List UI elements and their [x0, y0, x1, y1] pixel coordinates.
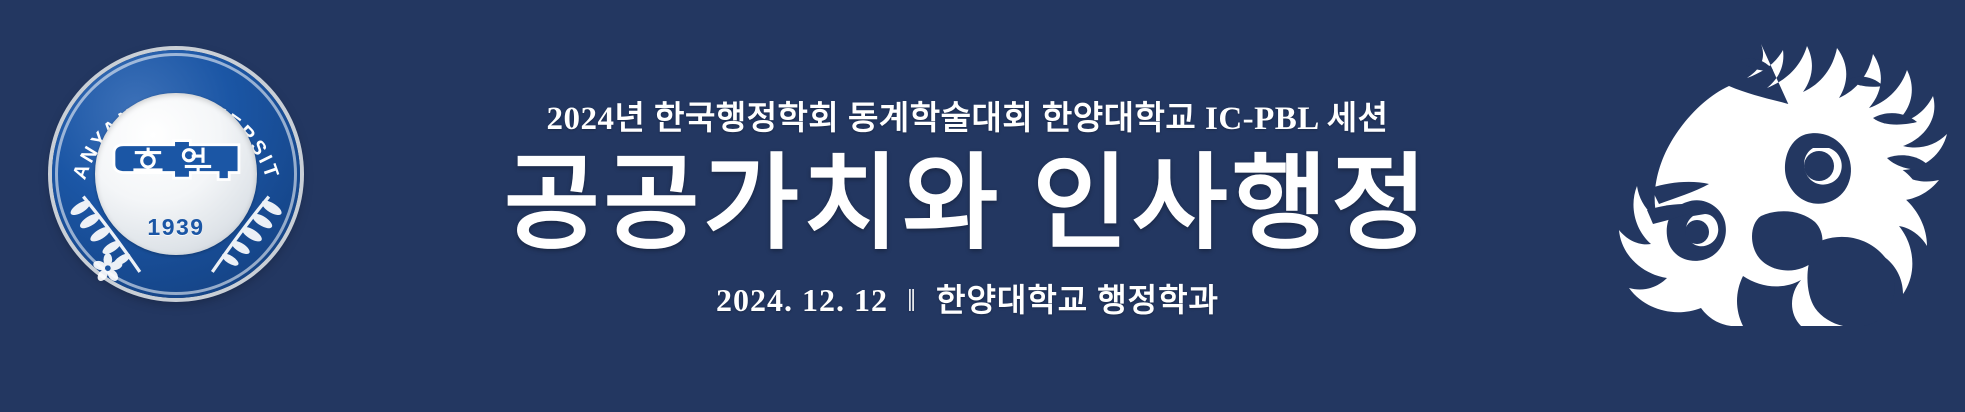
footer-separator: ‖	[897, 282, 927, 319]
hanyang-hangul-emblem	[107, 132, 246, 196]
hanyang-university-seal: HANYANG UNIVERSITY	[52, 50, 300, 298]
event-main-title: 공공가치와 인사행정	[504, 149, 1431, 261]
event-date: 2024. 12. 12	[716, 282, 888, 318]
conference-banner: HANYANG UNIVERSITY	[0, 0, 1965, 412]
event-footer-line: 2024. 12. 12 ‖ 한양대학교 행정학과	[716, 275, 1219, 321]
event-venue: 한양대학교 행정학과	[936, 282, 1219, 318]
hanyang-lion-mascot-icon	[1611, 26, 1951, 326]
seal-founding-year: 1939	[52, 214, 300, 241]
banner-text-block: 2024년 한국행정학회 동계학술대회 한양대학교 IC-PBL 세션 공공가치…	[300, 0, 1635, 412]
event-subtitle: 2024년 한국행정학회 동계학술대회 한양대학교 IC-PBL 세션	[547, 91, 1389, 139]
